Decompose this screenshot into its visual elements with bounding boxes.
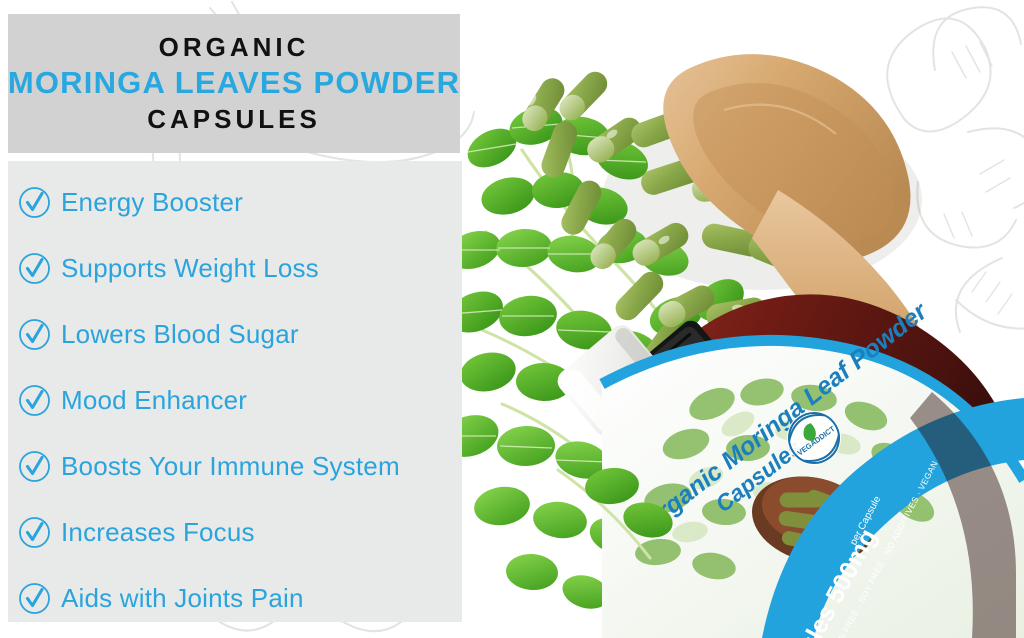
product-infographic: ORGANIC MORINGA LEAVES POWDER CAPSULES E… xyxy=(0,0,1024,638)
list-item: Mood Enhancer xyxy=(8,367,462,433)
product-photo: Organic Moringa Leaf Powder Capsules 120… xyxy=(462,0,1024,638)
benefit-label: Energy Booster xyxy=(61,187,243,218)
title-line-product: MORINGA LEAVES POWDER xyxy=(8,67,460,100)
benefit-label: Supports Weight Loss xyxy=(61,253,319,284)
check-circle-icon xyxy=(18,450,51,483)
check-circle-icon xyxy=(18,516,51,549)
benefits-panel: Energy Booster Supports Weight Loss xyxy=(8,161,462,622)
benefit-label: Lowers Blood Sugar xyxy=(61,319,299,350)
list-item: Supports Weight Loss xyxy=(8,235,462,301)
benefit-label: Increases Focus xyxy=(61,517,255,548)
benefit-label: Boosts Your Immune System xyxy=(61,451,400,482)
benefit-label: Mood Enhancer xyxy=(61,385,247,416)
check-circle-icon xyxy=(18,186,51,219)
list-item: Increases Focus xyxy=(8,499,462,565)
title-line-capsules: CAPSULES xyxy=(147,106,321,133)
benefits-list: Energy Booster Supports Weight Loss xyxy=(8,161,462,622)
check-circle-icon xyxy=(18,384,51,417)
list-item: Energy Booster xyxy=(8,169,462,235)
list-item: Lowers Blood Sugar xyxy=(8,301,462,367)
benefit-label: Aids with Joints Pain xyxy=(61,583,304,614)
title-banner: ORGANIC MORINGA LEAVES POWDER CAPSULES xyxy=(8,14,460,153)
check-circle-icon xyxy=(18,318,51,351)
title-line-organic: ORGANIC xyxy=(159,34,310,61)
check-circle-icon xyxy=(18,582,51,615)
list-item: Aids with Joints Pain xyxy=(8,565,462,622)
list-item: Boosts Your Immune System xyxy=(8,433,462,499)
check-circle-icon xyxy=(18,252,51,285)
